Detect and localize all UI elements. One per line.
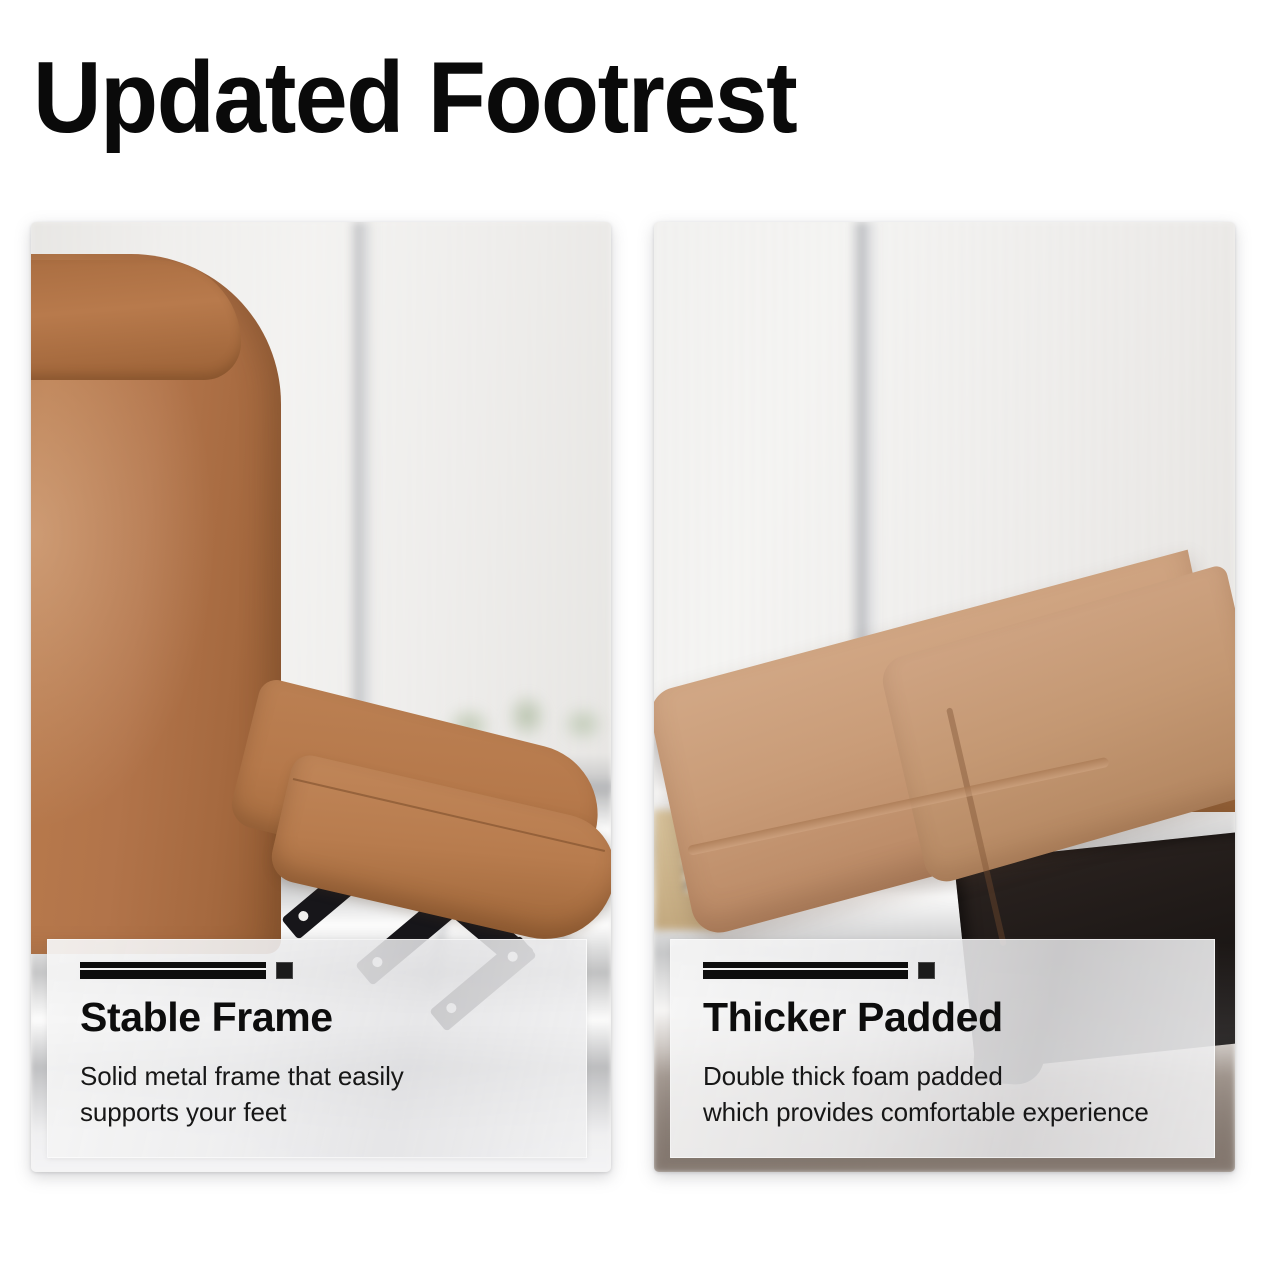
feature-panel-thicker-padded: Thicker Padded Double thick foam padded …: [654, 222, 1235, 1172]
recliner-cushion-edge: [31, 260, 241, 380]
caption-body: Double thick foam padded which provides …: [703, 1059, 1190, 1131]
double-bar-icon: [80, 962, 266, 979]
caption-rule: [703, 962, 1190, 979]
double-bar-icon: [703, 962, 908, 979]
caption-heading: Stable Frame: [80, 995, 562, 1039]
caption-card-thicker-padded: Thicker Padded Double thick foam padded …: [670, 939, 1215, 1158]
product-feature-graphic: Updated Footrest: [0, 0, 1263, 1263]
feature-panel-stable-frame: Stable Frame Solid metal frame that easi…: [31, 222, 611, 1172]
page-title: Updated Footrest: [33, 48, 796, 149]
square-accent-icon: [276, 962, 293, 979]
caption-body: Solid metal frame that easily supports y…: [80, 1059, 562, 1131]
caption-rule: [80, 962, 562, 979]
square-accent-icon: [918, 962, 935, 979]
caption-card-stable-frame: Stable Frame Solid metal frame that easi…: [47, 939, 587, 1158]
caption-heading: Thicker Padded: [703, 995, 1190, 1039]
